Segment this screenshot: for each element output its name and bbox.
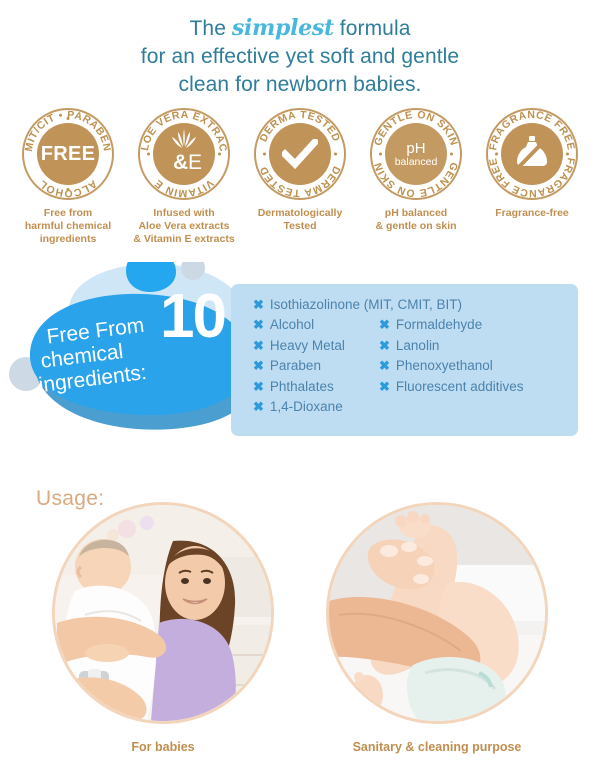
- x-mark-icon: ✖: [253, 377, 264, 397]
- badge-center: [501, 123, 563, 185]
- photo-frame: [52, 502, 274, 724]
- page-title: The simplest formula for an effective ye…: [0, 0, 600, 98]
- aloe-plant-icon: & E: [159, 125, 209, 175]
- headline-post: formula: [334, 17, 411, 40]
- headline-line-1: The simplest formula: [0, 14, 600, 43]
- ingredient-label: Lanolin: [396, 336, 440, 357]
- badge-free-from-chemicals: MIT/CIT • PARABEN ALCOHOL FREE Free from…: [12, 108, 124, 245]
- badge-caption: Infused with Aloe Vera extracts & Vitami…: [128, 207, 240, 245]
- list-item: ✖ Phenoxyethanol: [379, 356, 493, 377]
- mother-holding-baby-photo: [55, 505, 271, 721]
- list-item: ✖ Heavy Metal: [253, 336, 379, 357]
- no-fragrance-bottle-icon: [509, 131, 555, 177]
- badge-caption: pH balanced & gentle on skin: [360, 207, 472, 233]
- photo-caption: Sanitary & cleaning purpose: [326, 740, 548, 754]
- list-item: ✖ Formaldehyde: [379, 315, 482, 336]
- badge-caption: Dermatologically Tested: [244, 207, 356, 233]
- badge-fragrance-free: FRAGRANCE FREE FRAGRANCE FREE Fragrance-…: [476, 108, 588, 245]
- headline-line-3: clean for newborn babies.: [0, 71, 600, 99]
- ingredient-row: ✖ Heavy Metal ✖ Lanolin: [253, 336, 568, 357]
- usage-photo-babies: For babies: [52, 502, 274, 754]
- list-item: ✖ Lanolin: [379, 336, 439, 357]
- ingredient-row: ✖ Phthalates ✖ Fluorescent additives: [253, 377, 568, 398]
- x-mark-icon: ✖: [379, 356, 390, 376]
- list-item: ✖ Paraben: [253, 356, 379, 377]
- x-mark-icon: ✖: [253, 315, 264, 335]
- ingredient-label: 1,4-Dioxane: [270, 397, 343, 418]
- ingredient-label: Heavy Metal: [270, 336, 345, 357]
- badge-ring: GENTLE ON SKIN GENTLE ON SKIN pHbalanced: [370, 108, 462, 200]
- badge-ring: DERMA TESTED DERMA TESTED: [254, 108, 346, 200]
- x-mark-icon: ✖: [379, 336, 390, 356]
- ingredient-row: ✖ Alcohol ✖ Formaldehyde: [253, 315, 568, 336]
- ingredient-label: Formaldehyde: [396, 315, 482, 336]
- ingredient-label: Fluorescent additives: [396, 377, 524, 398]
- ingredient-row: ✖ Isothiazolinone (MIT, CMIT, BIT): [253, 295, 568, 316]
- svg-text:E: E: [188, 151, 202, 174]
- photo-frame: [326, 502, 548, 724]
- badge-aloe-vera-vitamin-e: ALOE VERA EXTRACT VITAMIN E & E: [128, 108, 240, 245]
- ingredient-row: ✖ 1,4-Dioxane: [253, 397, 568, 418]
- list-item: ✖ Isothiazolinone (MIT, CMIT, BIT): [253, 295, 462, 316]
- x-mark-icon: ✖: [253, 397, 264, 417]
- excluded-ingredients-panel: ✖ Isothiazolinone (MIT, CMIT, BIT) ✖ Alc…: [231, 284, 578, 436]
- balanced-label: balanced: [395, 157, 438, 168]
- badge-ring: ALOE VERA EXTRACT VITAMIN E & E: [138, 108, 230, 200]
- badge-derma-tested: DERMA TESTED DERMA TESTED Dermatological…: [244, 108, 356, 245]
- ingredient-row: ✖ Paraben ✖ Phenoxyethanol: [253, 356, 568, 377]
- badge-ring: MIT/CIT • PARABEN ALCOHOL FREE: [22, 108, 114, 200]
- ingredient-label: Isothiazolinone (MIT, CMIT, BIT): [270, 295, 462, 316]
- list-item: ✖ Alcohol: [253, 315, 379, 336]
- list-item: ✖ Fluorescent additives: [379, 377, 523, 398]
- usage-photos: For babies: [0, 502, 600, 754]
- baby-diaper-change-photo: [329, 505, 545, 721]
- x-mark-icon: ✖: [253, 336, 264, 356]
- x-mark-icon: ✖: [253, 295, 264, 315]
- photo-caption: For babies: [52, 740, 274, 754]
- list-item: ✖ 1,4-Dioxane: [253, 397, 343, 418]
- x-mark-icon: ✖: [379, 315, 390, 335]
- badge-ring: FRAGRANCE FREE FRAGRANCE FREE: [486, 108, 578, 200]
- x-mark-icon: ✖: [379, 377, 390, 397]
- list-item: ✖ Phthalates: [253, 377, 379, 398]
- badge-caption: Free from harmful chemical ingredients: [12, 207, 124, 245]
- ingredient-label: Phthalates: [270, 377, 334, 398]
- x-mark-icon: ✖: [253, 356, 264, 376]
- free-label: FREE: [41, 143, 96, 166]
- svg-text:&: &: [173, 151, 188, 174]
- ingredient-label: Alcohol: [270, 315, 314, 336]
- headline-script-word: simplest: [232, 15, 334, 41]
- certification-badges: MIT/CIT • PARABEN ALCOHOL FREE Free from…: [0, 98, 600, 245]
- ph-label: pHbalanced: [395, 141, 438, 168]
- badge-caption: Fragrance-free: [476, 207, 588, 220]
- badge-ph-balanced: GENTLE ON SKIN GENTLE ON SKIN pHbalanced…: [360, 108, 472, 245]
- ingredient-label: Phenoxyethanol: [396, 356, 493, 377]
- headline-pre: The: [189, 17, 231, 40]
- ingredient-label: Paraben: [270, 356, 321, 377]
- check-icon: [282, 139, 318, 169]
- free-from-section: Free From chemical ingredients: 10 ✖ Iso…: [0, 262, 600, 462]
- headline-line-2: for an effective yet soft and gentle: [0, 43, 600, 71]
- usage-photo-sanitary: Sanitary & cleaning purpose: [326, 502, 548, 754]
